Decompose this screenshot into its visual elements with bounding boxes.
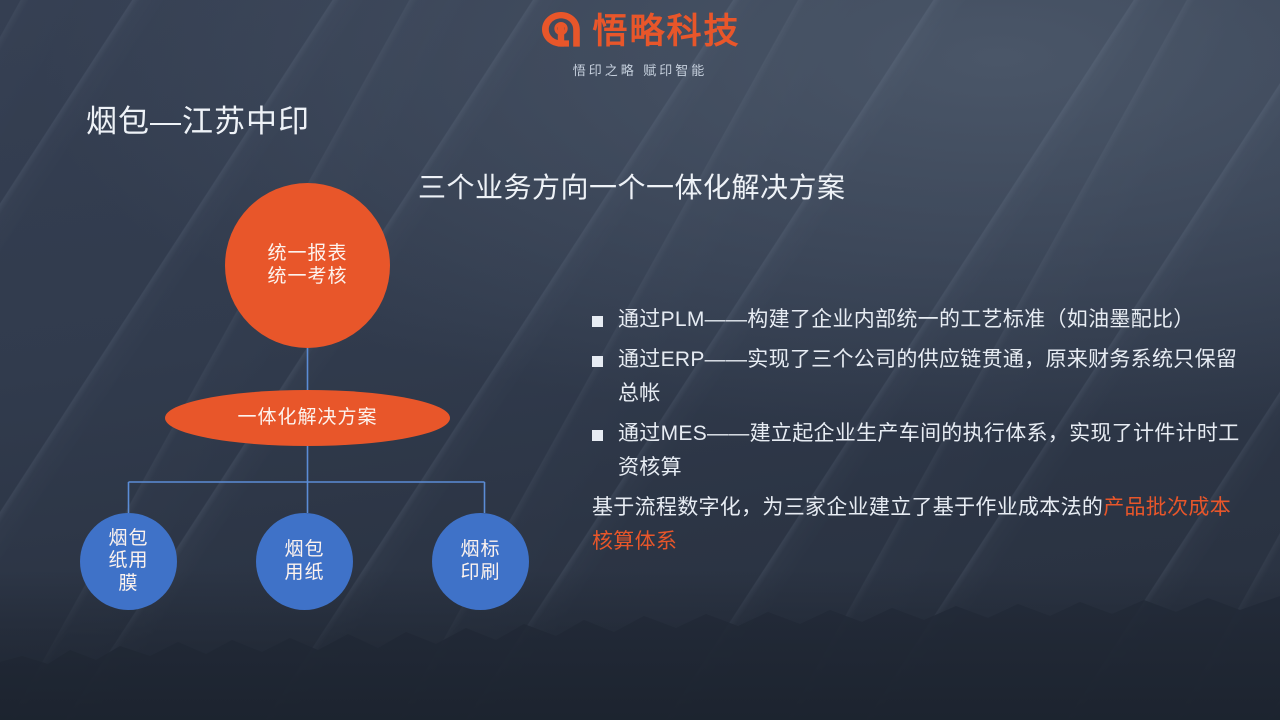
diagram-node-child-1-line-2: 纸用 (108, 550, 148, 572)
diagram-node-child-1-line-3: 膜 (108, 573, 148, 595)
solution-hierarchy-diagram: 统一报表 统一考核 一体化解决方案 烟包 纸用 膜 烟包 用纸 烟标 印刷 (60, 180, 580, 640)
bullet-content-block: 通过PLM——构建了企业内部统一的工艺标准（如油墨配比） 通过ERP——实现了三… (592, 303, 1252, 559)
square-bullet-icon (592, 356, 603, 367)
diagram-node-child-2[interactable]: 烟包 用纸 (256, 513, 353, 610)
brand-tagline: 悟印之略 赋印智能 (573, 60, 708, 79)
at-symbol-logo-icon (539, 10, 583, 53)
diagram-node-hub-label: 一体化解决方案 (237, 407, 377, 429)
diagram-node-child-3[interactable]: 烟标 印刷 (432, 513, 529, 610)
square-bullet-icon (592, 430, 603, 441)
diagram-node-hub[interactable]: 一体化解决方案 (165, 390, 450, 446)
closing-statement: 基于流程数字化，为三家企业建立了基于作业成本法的产品批次成本核算体系 (592, 491, 1252, 559)
diagram-node-root[interactable]: 统一报表 统一考核 (225, 183, 390, 348)
bullet-item-2: 通过ERP——实现了三个公司的供应链贯通，原来财务系统只保留总帐 (592, 343, 1252, 411)
brand-name: 悟略科技 (592, 14, 740, 49)
at-symbol-glyph (539, 10, 583, 48)
diagram-node-root-line-1: 统一报表 (267, 243, 347, 265)
diagram-node-root-line-2: 统一考核 (267, 266, 347, 288)
brand-logo: 悟略科技 悟印之略 赋印智能 (0, 10, 1280, 79)
square-bullet-icon (592, 316, 603, 327)
presentation-slide: 悟略科技 悟印之略 赋印智能 烟包—江苏中印 三个业务方向一个一体化解决方案 统… (0, 0, 1280, 720)
diagram-node-child-3-line-2: 印刷 (460, 562, 500, 584)
bullet-item-3: 通过MES——建立起企业生产车间的执行体系，实现了计件计时工资核算 (592, 417, 1252, 485)
diagram-node-child-3-line-1: 烟标 (460, 539, 500, 561)
bullet-item-2-text: 通过ERP——实现了三个公司的供应链贯通，原来财务系统只保留总帐 (618, 343, 1252, 411)
bullet-item-3-text: 通过MES——建立起企业生产车间的执行体系，实现了计件计时工资核算 (618, 417, 1252, 485)
diagram-node-child-1-line-1: 烟包 (108, 528, 148, 550)
page-title: 烟包—江苏中印 (86, 96, 310, 141)
bullet-item-1-text: 通过PLM——构建了企业内部统一的工艺标准（如油墨配比） (618, 303, 1195, 337)
closing-statement-plain: 基于流程数字化，为三家企业建立了基于作业成本法的 (592, 496, 1103, 519)
bullet-item-1: 通过PLM——构建了企业内部统一的工艺标准（如油墨配比） (592, 303, 1252, 337)
diagram-node-child-1[interactable]: 烟包 纸用 膜 (80, 513, 177, 610)
diagram-node-child-2-line-2: 用纸 (284, 562, 324, 584)
diagram-node-child-2-line-1: 烟包 (284, 539, 324, 561)
brand-logo-row: 悟略科技 (539, 10, 740, 53)
